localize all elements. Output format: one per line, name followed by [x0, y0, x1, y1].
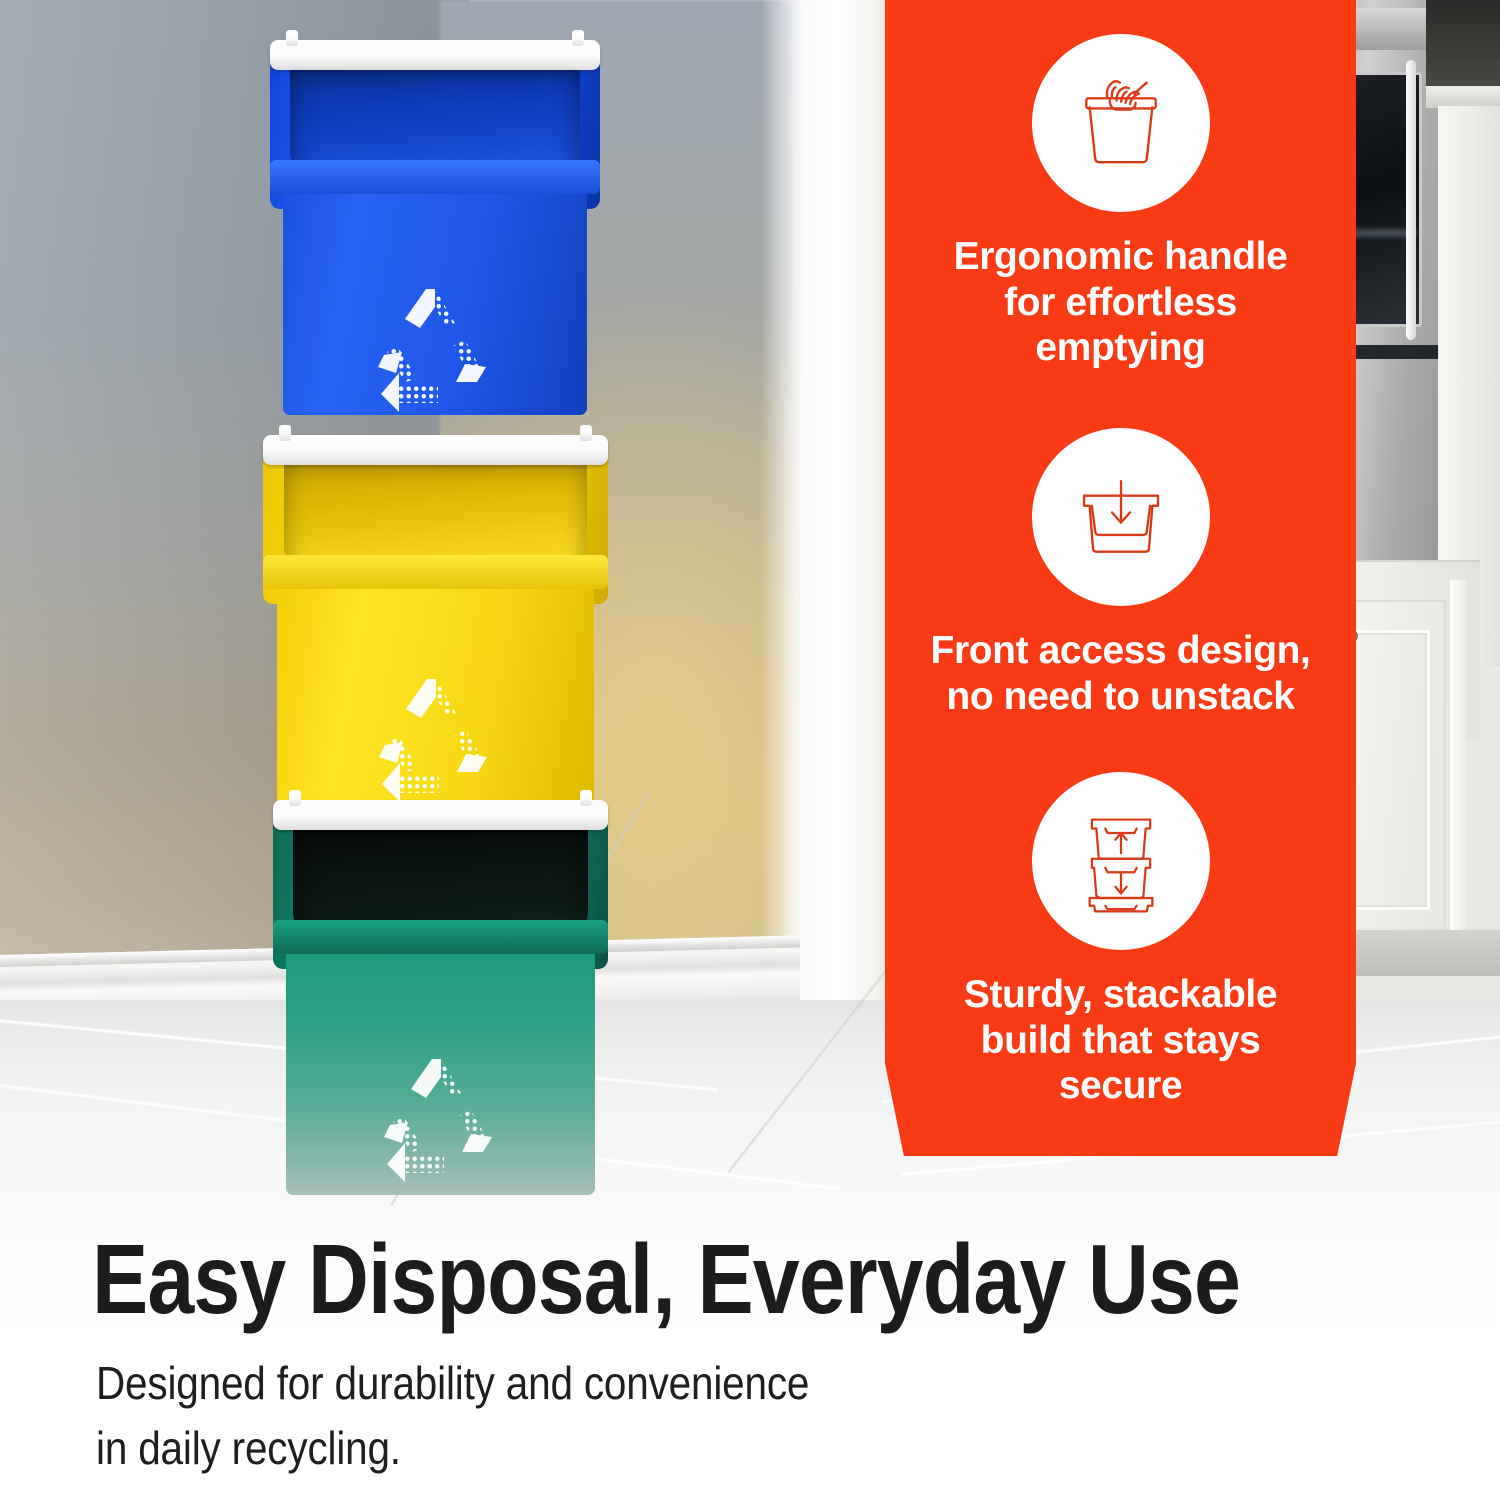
- feature-icon-circle-1: [1032, 428, 1210, 606]
- hand-grip-bin-icon: [1065, 67, 1177, 179]
- feature-panel: Ergonomic handle for effortless emptying…: [885, 0, 1356, 1156]
- recycle-symbol: [361, 670, 511, 805]
- yellow-bin-rim: [263, 435, 608, 465]
- bottom-copy-area: Easy Disposal, Everyday Use Designed for…: [0, 1205, 1500, 1500]
- product-feature-card: Ergonomic handle for effortless emptying…: [0, 0, 1500, 1500]
- oven-handle: [1406, 60, 1416, 340]
- cabinet-side-panel: [1450, 580, 1466, 960]
- countertop-dark: [1426, 0, 1500, 90]
- recycle-symbol: [366, 1050, 516, 1185]
- yellow-bin-lip: [263, 555, 608, 589]
- recycle-symbol: [360, 280, 510, 415]
- wall-corner: [760, 0, 890, 1020]
- feature-item-1: Front access design, no need to unstack: [885, 428, 1356, 719]
- subcopy: Designed for durability and convenience …: [96, 1351, 809, 1482]
- countertop-edge: [1426, 86, 1500, 108]
- headline: Easy Disposal, Everyday Use: [92, 1223, 1240, 1336]
- yellow-recycling-bin: [263, 435, 608, 855]
- feature-text-2: Sturdy, stackable build that stays secur…: [885, 972, 1356, 1109]
- blue-recycling-bin: [270, 40, 600, 460]
- feature-text-0: Ergonomic handle for effortless emptying: [885, 234, 1356, 371]
- feature-item-2: Sturdy, stackable build that stays secur…: [885, 772, 1356, 1109]
- blue-bin-rim: [270, 40, 600, 70]
- feature-text-1: Front access design, no need to unstack: [885, 628, 1356, 719]
- stacked-bins-arrows-icon: [1065, 805, 1177, 917]
- green-bin-lip: [273, 920, 608, 954]
- bin-front-access-icon: [1065, 461, 1177, 573]
- green-recycling-bin: [273, 800, 608, 1205]
- feature-icon-circle-2: [1032, 772, 1210, 950]
- bin-stack: [255, 40, 655, 1190]
- feature-item-0: Ergonomic handle for effortless emptying: [885, 34, 1356, 371]
- feature-icon-circle-0: [1032, 34, 1210, 212]
- blue-bin-lip: [270, 160, 600, 194]
